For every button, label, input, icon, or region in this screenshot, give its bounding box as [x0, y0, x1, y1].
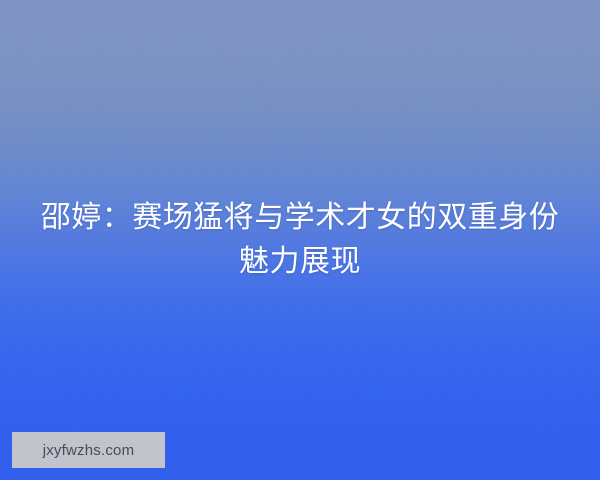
image-canvas: 邵婷：赛场猛将与学术才女的双重身份魅力展现 jxyfwzhs.com [0, 0, 600, 480]
watermark-label: jxyfwzhs.com [43, 442, 135, 459]
title-block: 邵婷：赛场猛将与学术才女的双重身份魅力展现 [0, 0, 600, 480]
page-title: 邵婷：赛场猛将与学术才女的双重身份魅力展现 [28, 196, 572, 285]
watermark-badge: jxyfwzhs.com [12, 432, 165, 468]
